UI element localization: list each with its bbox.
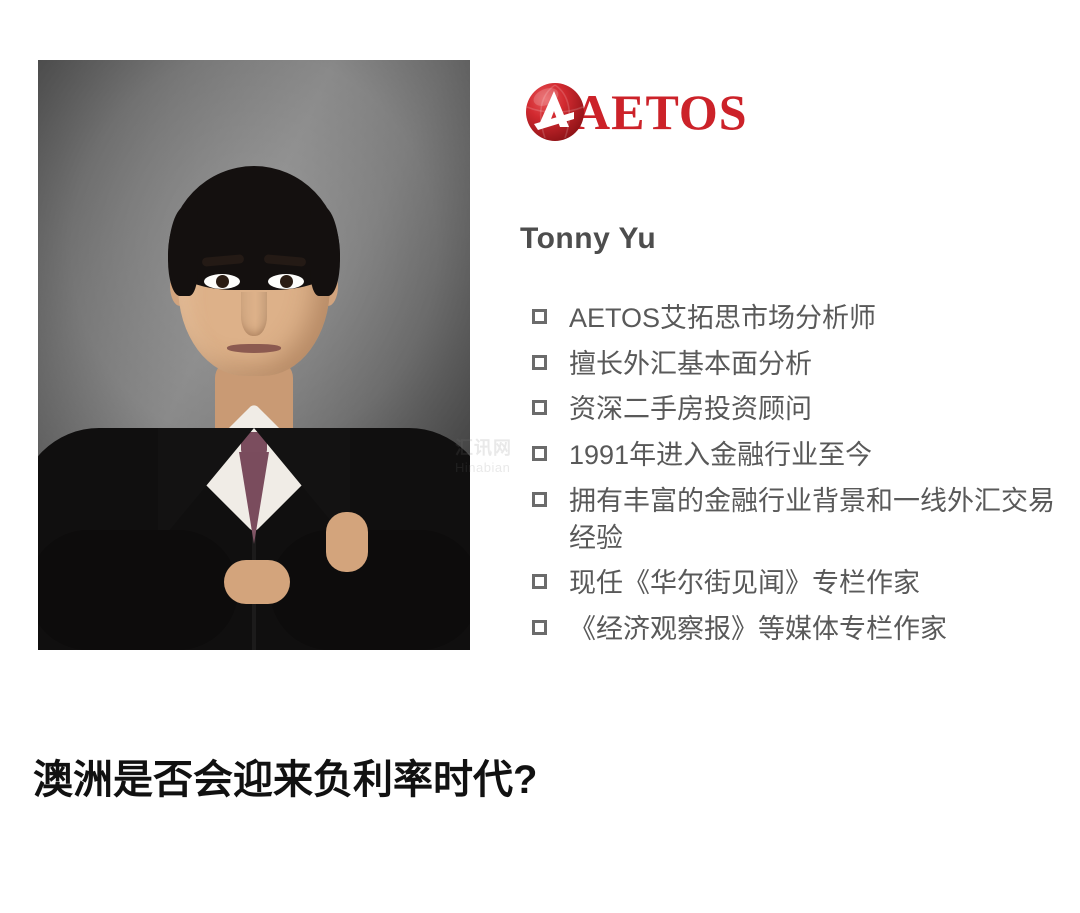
folded-arm-right: [270, 530, 470, 650]
suit-lapel-left: [158, 428, 254, 544]
brand-wordmark: AETOS: [574, 87, 748, 137]
list-item: 拥有丰富的金融行业背景和一线外汇交易经验: [518, 483, 1080, 556]
list-item: 《经济观察报》等媒体专栏作家: [518, 611, 1080, 648]
hair: [168, 166, 340, 290]
profile-panel: AETOS Tonny Yu AETOS艾拓思市场分析师 擅长外汇基本面分析 资…: [518, 0, 1080, 680]
hollow-square-bullet-icon: [532, 446, 547, 461]
pupil-left: [216, 275, 229, 288]
credentials-list: AETOS艾拓思市场分析师 擅长外汇基本面分析 资深二手房投资顾问 1991年进…: [518, 300, 1080, 657]
hollow-square-bullet-icon: [532, 400, 547, 415]
credential-text: 拥有丰富的金融行业背景和一线外汇交易经验: [569, 483, 1074, 556]
pupil-right: [280, 275, 293, 288]
aetos-globe-arrow-logo-icon: [524, 81, 586, 143]
hollow-square-bullet-icon: [532, 620, 547, 635]
analyst-name: Tonny Yu: [520, 222, 656, 256]
credential-text: 擅长外汇基本面分析: [569, 346, 812, 383]
hand-right: [326, 512, 368, 572]
hollow-square-bullet-icon: [532, 309, 547, 324]
credential-text: 1991年进入金融行业至今: [569, 437, 872, 474]
credential-text: 现任《华尔街见闻》专栏作家: [569, 565, 920, 602]
credential-text: AETOS艾拓思市场分析师: [569, 300, 876, 337]
credential-text: 资深二手房投资顾问: [569, 391, 812, 428]
aetos-brand-logo: AETOS: [524, 78, 748, 146]
analyst-portrait-photo: [38, 60, 470, 650]
hollow-square-bullet-icon: [532, 355, 547, 370]
eye-right: [268, 274, 304, 289]
hand-left: [224, 560, 290, 604]
nose: [241, 292, 267, 336]
list-item: 现任《华尔街见闻》专栏作家: [518, 565, 1080, 602]
person-figure: [38, 60, 470, 650]
eye-left: [204, 274, 240, 289]
hollow-square-bullet-icon: [532, 492, 547, 507]
credential-text: 《经济观察报》等媒体专栏作家: [569, 611, 947, 648]
hollow-square-bullet-icon: [532, 574, 547, 589]
list-item: 资深二手房投资顾问: [518, 391, 1080, 428]
list-item: 擅长外汇基本面分析: [518, 346, 1080, 383]
list-item: 1991年进入金融行业至今: [518, 437, 1080, 474]
list-item: AETOS艾拓思市场分析师: [518, 300, 1080, 337]
page-title: 澳洲是否会迎来负利率时代?: [33, 747, 537, 805]
folded-arm-left: [38, 530, 238, 650]
mouth: [227, 344, 281, 353]
